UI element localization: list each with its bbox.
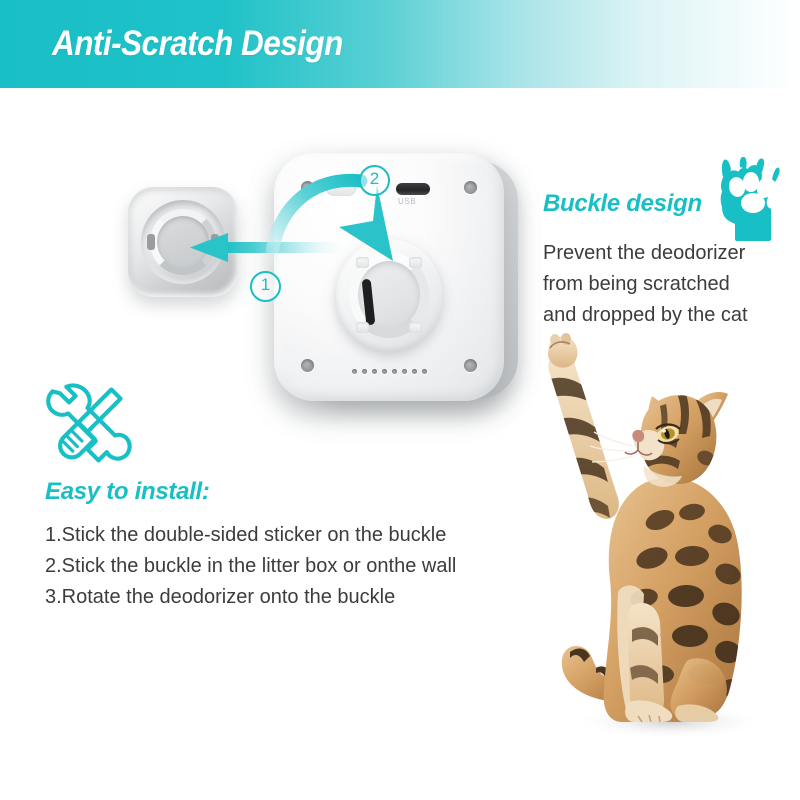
- install-steps-list: 1.Stick the double-sided sticker on the …: [45, 520, 456, 613]
- install-step: 2.Stick the buckle in the litter box or …: [45, 551, 456, 582]
- rotate-arrow: [265, 165, 415, 290]
- description-line: from being scratched: [543, 269, 748, 300]
- vent-dot: [362, 369, 367, 374]
- paw-print-icon: [715, 157, 781, 243]
- speaker-vent-dots: [352, 369, 427, 374]
- buckle-notch-left: [147, 234, 155, 250]
- vent-dot: [372, 369, 377, 374]
- vent-dot: [402, 369, 407, 374]
- infographic-page: Anti-Scratch Design USB: [0, 0, 800, 800]
- step-marker-1: 1: [250, 271, 281, 302]
- buckle-design-heading: Buckle design: [543, 190, 702, 218]
- install-step: 3.Rotate the deodorizer onto the buckle: [45, 582, 456, 613]
- screw-hole-top-right: [464, 181, 477, 194]
- cat-head: [590, 392, 728, 487]
- description-line: Prevent the deodorizer: [543, 238, 748, 269]
- easy-to-install-heading: Easy to install:: [45, 478, 210, 506]
- screw-hole-bottom-right: [464, 359, 477, 372]
- bengal-cat-reaching-paw: [492, 330, 792, 760]
- cat-raised-paw-arm: [542, 333, 619, 519]
- screw-hole-bottom-left: [301, 359, 314, 372]
- vent-dot: [352, 369, 357, 374]
- buckle-design-description: Prevent the deodorizer from being scratc…: [543, 238, 748, 331]
- vent-dot: [412, 369, 417, 374]
- step-marker-2: 2: [359, 165, 390, 196]
- tools-icon: [45, 382, 137, 468]
- description-line: and dropped by the cat: [543, 300, 748, 331]
- page-title: Anti-Scratch Design: [52, 24, 343, 64]
- mount-tab-bottom-right: [409, 322, 422, 333]
- install-step: 1.Stick the double-sided sticker on the …: [45, 520, 456, 551]
- vent-dot: [382, 369, 387, 374]
- vent-dot: [422, 369, 427, 374]
- vent-dot: [392, 369, 397, 374]
- header-banner: Anti-Scratch Design: [0, 0, 800, 88]
- mount-tab-bottom-left: [356, 322, 369, 333]
- product-illustration: USB: [110, 135, 530, 425]
